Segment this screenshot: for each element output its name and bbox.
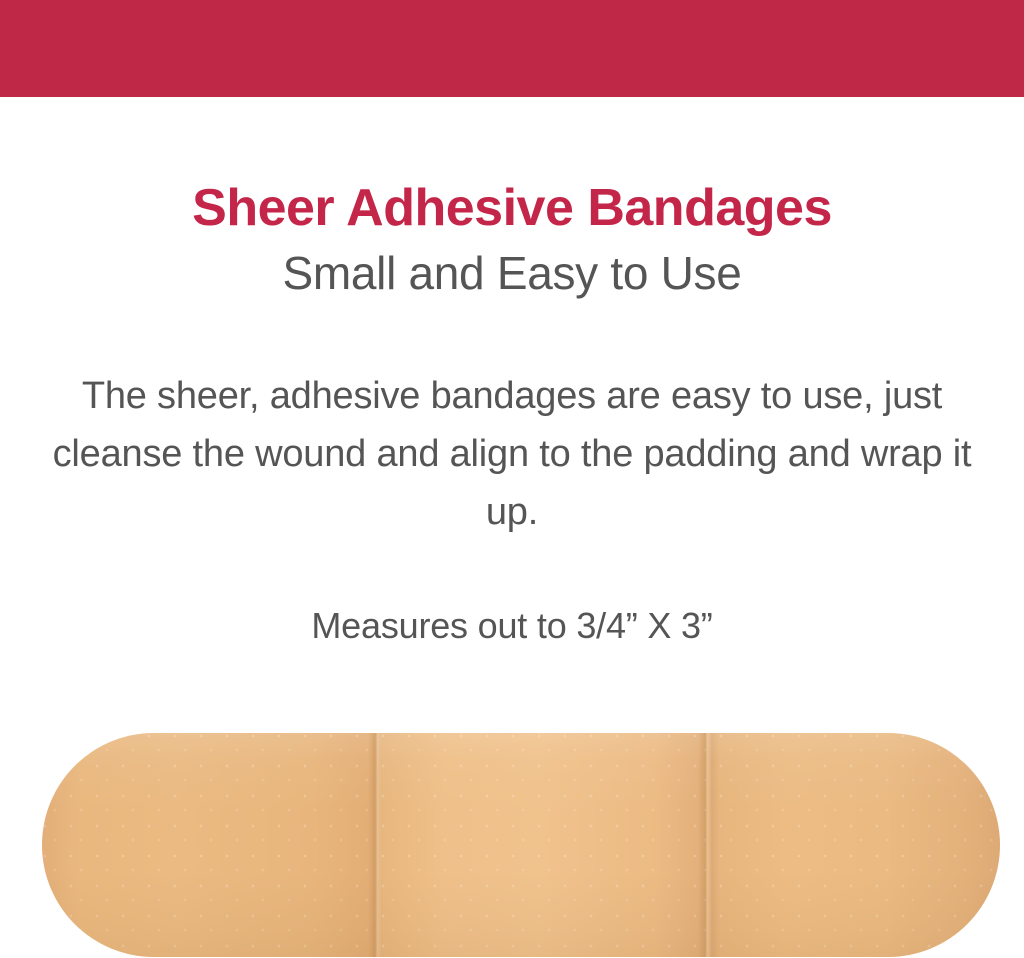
product-description: The sheer, adhesive bandages are easy to… xyxy=(32,301,992,541)
page-title: Sheer Adhesive Bandages xyxy=(0,97,1024,239)
adhesive-bandage-illustration xyxy=(42,733,1000,957)
top-color-band xyxy=(0,0,1024,97)
text-content-block: Sheer Adhesive Bandages Small and Easy t… xyxy=(0,97,1024,649)
bandage-body xyxy=(42,733,1000,957)
product-measurement: Measures out to 3/4” X 3” xyxy=(32,541,992,649)
bandage-shading xyxy=(42,733,1000,957)
product-info-page: Sheer Adhesive Bandages Small and Easy t… xyxy=(0,0,1024,958)
page-subtitle: Small and Easy to Use xyxy=(0,239,1024,301)
